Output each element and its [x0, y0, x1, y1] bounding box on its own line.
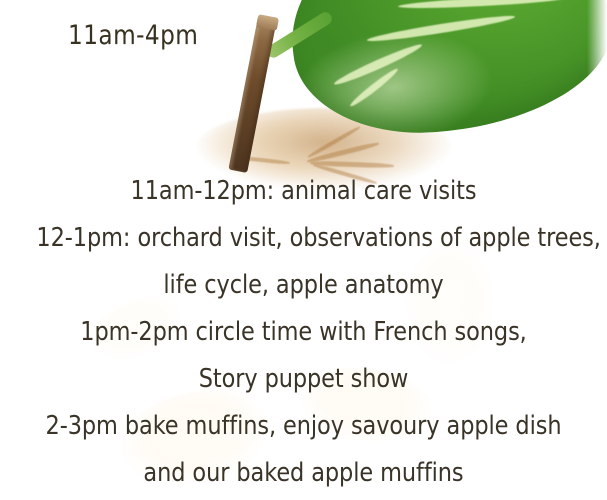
- event-time-heading: 11am-4pm: [68, 20, 198, 51]
- schedule-line: 12-1pm: orchard visit, observations of a…: [36, 215, 570, 262]
- poster-canvas: 11am-4pm 11am-12pm: animal care visits 1…: [0, 0, 607, 500]
- schedule-line: 2-3pm bake muffins, enjoy savoury apple …: [36, 403, 570, 450]
- schedule-line: Story puppet show: [36, 356, 570, 403]
- schedule-line: 1pm-2pm circle time with French songs,: [36, 309, 570, 356]
- schedule-line: life cycle, apple anatomy: [36, 262, 570, 309]
- schedule-line: 11am-12pm: animal care visits: [36, 168, 570, 215]
- schedule-list: 11am-12pm: animal care visits 12-1pm: or…: [0, 168, 607, 497]
- schedule-line: and our baked apple muffins: [36, 450, 570, 497]
